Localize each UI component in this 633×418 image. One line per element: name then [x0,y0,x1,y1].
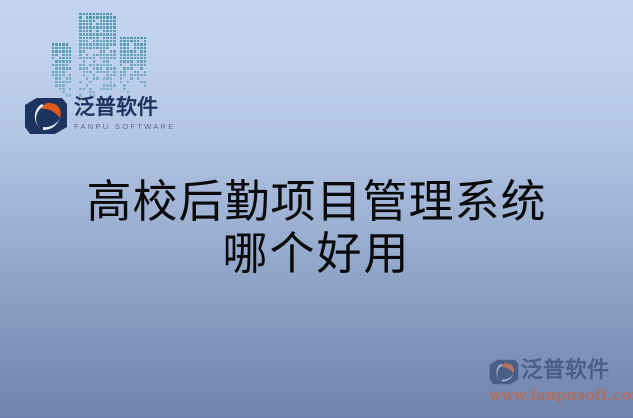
company-name-cn: 泛普软件 [74,95,174,120]
fanpu-logo: 泛普软件 FANPU SOFTWARE [24,95,172,139]
watermark-logo-mark-icon [489,359,519,385]
title-line-1: 高校后勤项目管理系统 [0,176,633,228]
company-name-en: FANPU SOFTWARE [74,121,174,132]
fanpu-logo-text: 泛普软件 FANPU SOFTWARE [74,95,174,132]
watermark-company-name: 泛普软件 [521,357,609,385]
fanpu-logo-mark-icon [24,97,68,135]
pixel-buildings-decoration [52,6,152,94]
title-line-2: 哪个好用 [0,228,633,280]
watermark-logo: 泛普软件 [487,356,627,388]
watermark: 泛普软件 www.fanpusoft.com [487,354,627,410]
promotional-banner: 泛普软件 FANPU SOFTWARE 高校后勤项目管理系统 哪个好用 泛普软件… [0,0,633,418]
page-title: 高校后勤项目管理系统 哪个好用 [0,176,633,280]
watermark-url: www.fanpusoft.com [489,387,633,404]
